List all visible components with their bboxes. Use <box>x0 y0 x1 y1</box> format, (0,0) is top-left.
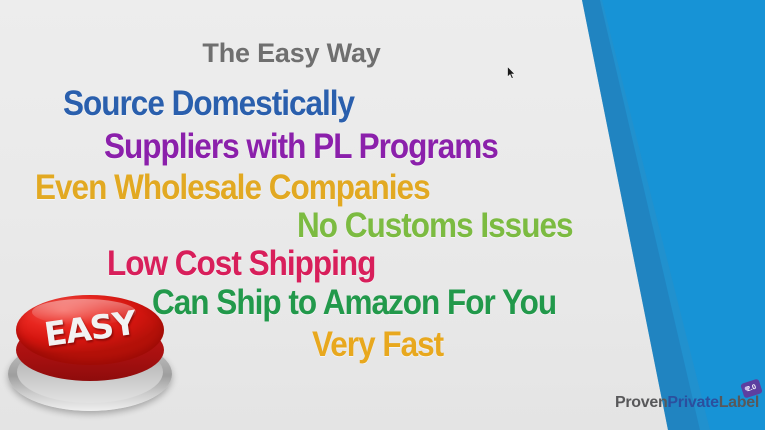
logo-text-private: Private <box>667 394 718 411</box>
bullet-line-7: Very Fast <box>312 325 443 365</box>
easy-button[interactable]: EASY <box>4 283 176 423</box>
slide-canvas: The Easy Way Source Domestically Supplie… <box>0 0 765 430</box>
bullet-line-6: Can Ship to Amazon For You <box>152 283 556 323</box>
bullet-line-4: No Customs Issues <box>297 206 573 246</box>
logo-text-proven: Proven <box>615 394 667 411</box>
brand-logo: ProvenPrivateLabel 2.0 <box>615 394 759 412</box>
logo-text-label: Label <box>719 394 759 411</box>
bullet-line-1: Source Domestically <box>63 84 354 124</box>
bullet-line-2: Suppliers with PL Programs <box>104 127 498 167</box>
slide-title: The Easy Way <box>0 38 583 69</box>
bullet-line-3: Even Wholesale Companies <box>35 168 430 208</box>
arrow-pointer-icon <box>507 66 516 80</box>
bullet-line-5: Low Cost Shipping <box>107 244 375 284</box>
